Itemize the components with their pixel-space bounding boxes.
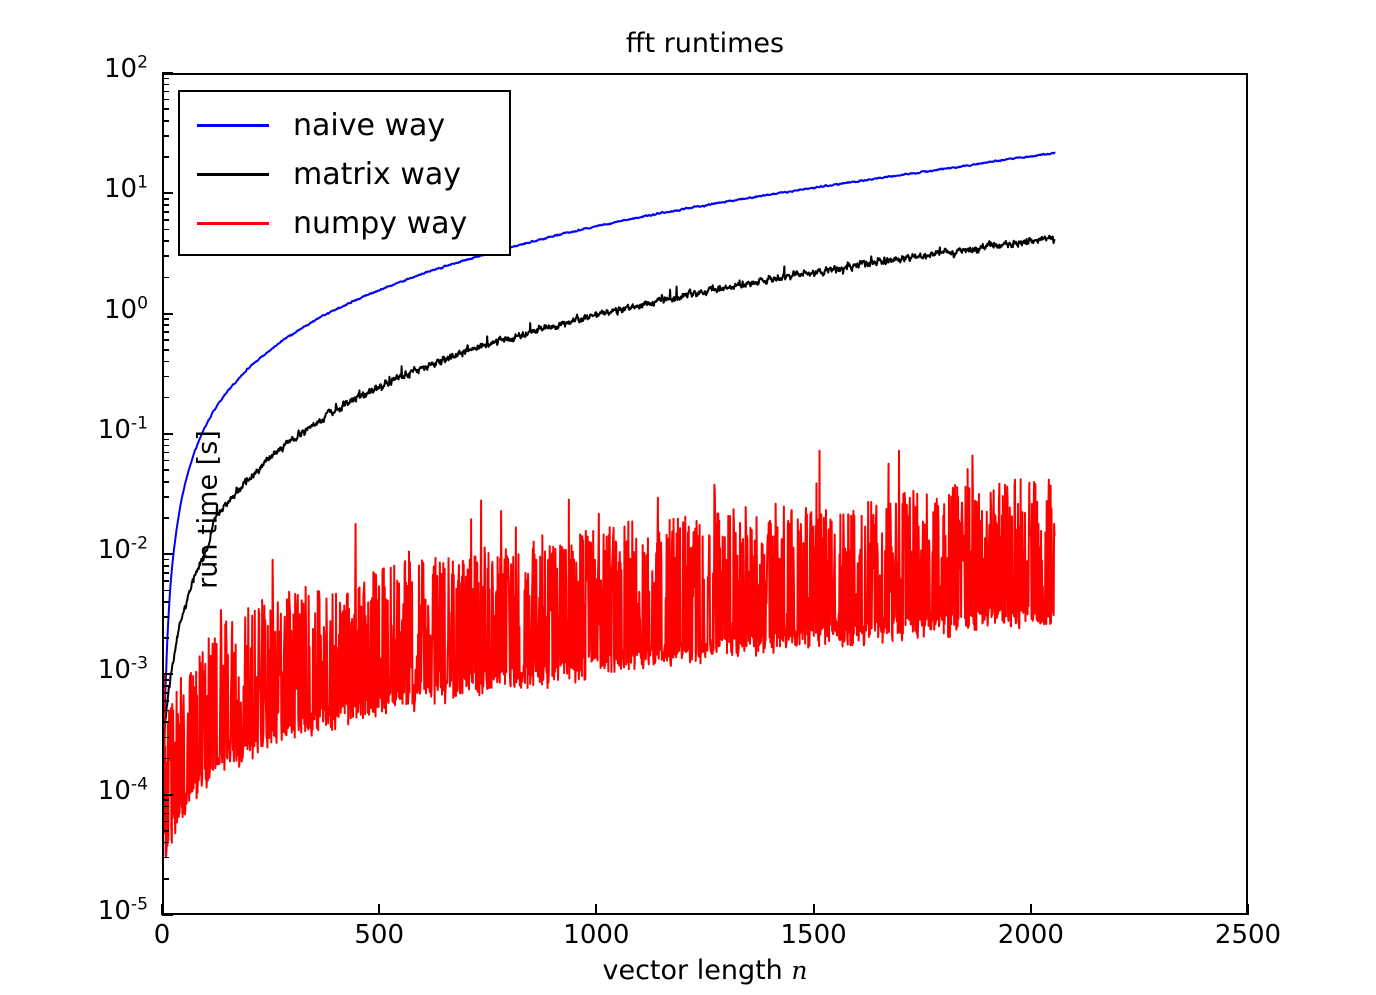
y-tick-label: 10-5 xyxy=(98,896,148,926)
legend-entry[interactable]: matrix way xyxy=(180,150,509,199)
y-tick-major xyxy=(162,72,173,74)
y-tick-minor xyxy=(162,679,169,681)
y-tick-minor xyxy=(162,240,169,242)
y-tick-major xyxy=(162,313,173,315)
y-tick-minor xyxy=(162,376,169,378)
x-tick-major xyxy=(161,904,163,915)
y-tick-minor xyxy=(162,710,169,712)
x-axis-label: vector length n xyxy=(162,955,1248,986)
y-tick-minor xyxy=(162,572,169,574)
y-tick-minor xyxy=(162,517,169,519)
y-tick-label: 101 xyxy=(104,174,148,204)
y-tick-minor xyxy=(162,108,169,110)
y-tick-minor xyxy=(162,84,169,86)
y-tick-minor xyxy=(162,452,169,454)
y-tick-major xyxy=(162,673,173,675)
y-tick-minor xyxy=(162,211,169,213)
x-tick-major xyxy=(813,904,815,915)
y-tick-minor xyxy=(162,842,169,844)
y-tick-minor xyxy=(162,439,169,441)
x-tick-label: 2000 xyxy=(998,920,1064,950)
y-tick-minor xyxy=(162,565,169,567)
y-tick-minor xyxy=(162,857,169,859)
y-tick-label: 102 xyxy=(104,54,148,84)
y-tick-minor xyxy=(162,255,169,257)
y-tick-minor xyxy=(162,397,169,399)
y-tick-minor xyxy=(162,481,169,483)
y-tick-minor xyxy=(162,758,169,760)
y-tick-label: 10-1 xyxy=(98,415,148,445)
y-tick-label: 10-3 xyxy=(98,655,148,685)
y-tick-minor xyxy=(162,559,169,561)
y-tick-label: 10-4 xyxy=(98,776,148,806)
y-tick-label: 10-2 xyxy=(98,535,148,565)
legend-label: matrix way xyxy=(293,160,461,190)
y-tick-minor xyxy=(162,349,169,351)
y-tick-minor xyxy=(162,229,169,231)
y-tick-minor xyxy=(162,685,169,687)
y-tick-major xyxy=(162,192,173,194)
legend-line-swatch xyxy=(197,222,269,225)
x-tick-major xyxy=(595,904,597,915)
y-tick-minor xyxy=(162,99,169,101)
y-tick-major xyxy=(162,914,173,916)
y-tick-minor xyxy=(162,91,169,93)
y-tick-label: 100 xyxy=(104,295,148,325)
x-tick-major xyxy=(378,904,380,915)
x-tick-label: 1500 xyxy=(781,920,847,950)
chart-title: fft runtimes xyxy=(162,30,1248,57)
y-tick-minor xyxy=(162,721,169,723)
y-tick-minor xyxy=(162,324,169,326)
legend-entry[interactable]: naive way xyxy=(180,101,509,150)
y-tick-minor xyxy=(162,806,169,808)
legend-entry[interactable]: numpy way xyxy=(180,199,509,248)
y-tick-minor xyxy=(162,799,169,801)
x-tick-label: 1000 xyxy=(563,920,629,950)
y-tick-minor xyxy=(162,277,169,279)
y-tick-minor xyxy=(162,78,169,80)
legend-label: numpy way xyxy=(293,209,467,239)
x-axis-label-variable: n xyxy=(791,956,807,985)
y-tick-minor xyxy=(162,120,169,122)
y-tick-minor xyxy=(162,737,169,739)
y-tick-minor xyxy=(162,460,169,462)
y-tick-minor xyxy=(162,692,169,694)
y-tick-minor xyxy=(162,813,169,815)
y-tick-minor xyxy=(162,496,169,498)
y-tick-minor xyxy=(162,637,169,639)
y-tick-minor xyxy=(162,198,169,200)
y-tick-minor xyxy=(162,361,169,363)
legend-line-swatch xyxy=(197,124,269,127)
y-tick-minor xyxy=(162,445,169,447)
x-tick-major xyxy=(1247,904,1249,915)
x-tick-major xyxy=(1030,904,1032,915)
figure-canvas: fft runtimes 10-510-410-310-210-11001011… xyxy=(0,0,1376,995)
y-tick-minor xyxy=(162,331,169,333)
legend-line-swatch xyxy=(197,173,269,176)
y-tick-major xyxy=(162,553,173,555)
y-tick-minor xyxy=(162,204,169,206)
y-tick-minor xyxy=(162,616,169,618)
y-tick-major xyxy=(162,433,173,435)
x-tick-label: 500 xyxy=(354,920,404,950)
y-tick-minor xyxy=(162,469,169,471)
y-tick-minor xyxy=(162,135,169,137)
y-tick-minor xyxy=(162,339,169,341)
chart-legend[interactable]: naive waymatrix waynumpy way xyxy=(178,90,511,256)
y-tick-minor xyxy=(162,601,169,603)
y-tick-minor xyxy=(162,821,169,823)
y-tick-minor xyxy=(162,590,169,592)
y-tick-major xyxy=(162,794,173,796)
y-tick-minor xyxy=(162,580,169,582)
y-tick-minor xyxy=(162,219,169,221)
x-tick-label: 0 xyxy=(154,920,171,950)
y-tick-minor xyxy=(162,878,169,880)
y-tick-minor xyxy=(162,700,169,702)
y-tick-minor xyxy=(162,318,169,320)
y-tick-minor xyxy=(162,830,169,832)
y-tick-minor xyxy=(162,156,169,158)
series-line-numpy-way xyxy=(164,451,1054,857)
legend-label: naive way xyxy=(293,111,445,141)
x-tick-label: 2500 xyxy=(1215,920,1281,950)
